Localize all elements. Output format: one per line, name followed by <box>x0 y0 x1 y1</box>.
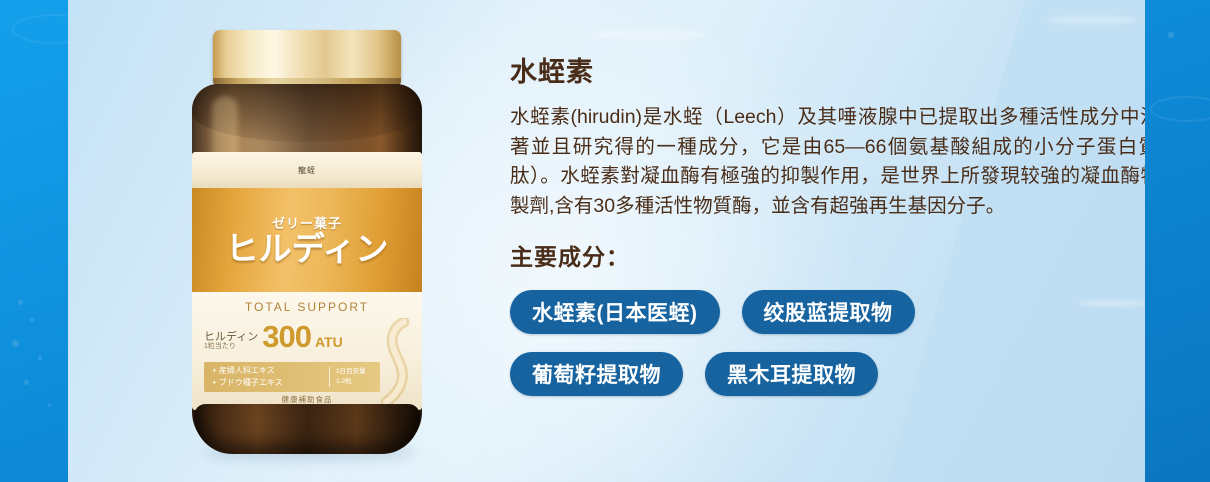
label-extra-line-2: + ブドウ種子エキス <box>212 377 329 389</box>
bottle-cap <box>213 30 401 82</box>
label-dose-value: 300 <box>262 324 311 350</box>
label-dose-name: ヒルディン <box>204 331 258 343</box>
label-dose-per: 1粒当たり <box>204 343 258 351</box>
ingredient-badge[interactable]: 水蛭素(日本医蛭) <box>510 290 720 334</box>
label-dose-row: ヒルディン 1粒当たり 300 ATU <box>204 324 343 350</box>
ingredient-badge[interactable]: 葡萄籽提取物 <box>510 352 683 396</box>
ingredients-heading: 主要成分： <box>510 238 1145 272</box>
leech-illustration-icon <box>374 318 418 406</box>
ingredient-badge-list: 水蛭素(日本医蛭) 绞股蓝提取物 葡萄籽提取物 黑木耳提取物 <box>510 290 1070 396</box>
ingredient-badge[interactable]: 黑木耳提取物 <box>705 352 878 396</box>
panel-wisp <box>1048 16 1138 24</box>
label-total-support: TOTAL SUPPORT <box>192 300 422 314</box>
label-white-area: TOTAL SUPPORT ヒルディン 1粒当たり 300 ATU + 産婦人科… <box>192 292 422 410</box>
label-extra-line-1: + 産婦人科エキス <box>212 365 329 377</box>
bottle-base <box>194 404 420 454</box>
content-panel: 龍蛭 ゼリー菓子 ヒルディン TOTAL SUPPORT ヒルディン 1粒当たり… <box>68 0 1145 482</box>
label-neck-text: 龍蛭 <box>298 165 316 176</box>
label-product-name: ヒルディン <box>226 232 389 267</box>
ingredient-badge[interactable]: 绞股蓝提取物 <box>742 290 915 334</box>
bottle-label: 龍蛭 ゼリー菓子 ヒルディン TOTAL SUPPORT ヒルディン 1粒当たり… <box>192 152 422 410</box>
label-gold-band: ゼリー菓子 ヒルディン <box>192 188 422 292</box>
label-extra-ingredients: + 産婦人科エキス + ブドウ種子エキス <box>204 365 329 388</box>
label-daily-dose: 1日目安量 1-2粒 <box>330 367 380 387</box>
label-neck-strip: 龍蛭 <box>192 152 422 188</box>
label-extra-box: + 産婦人科エキス + ブドウ種子エキス 1日目安量 1-2粒 <box>204 362 380 392</box>
supplement-bottle: 龍蛭 ゼリー菓子 ヒルディン TOTAL SUPPORT ヒルディン 1粒当たり… <box>176 12 448 452</box>
product-description: 水蛭素(hirudin)是水蛭（Leech）及其唾液腺中已提取出多種活性成分中活… <box>510 103 1145 222</box>
label-dose-unit: ATU <box>315 334 343 350</box>
page-title: 水蛭素 <box>510 50 1145 89</box>
panel-wisp <box>588 30 708 40</box>
product-image: 龍蛭 ゼリー菓子 ヒルディン TOTAL SUPPORT ヒルディン 1粒当たり… <box>176 12 456 462</box>
product-info: 水蛭素 水蛭素(hirudin)是水蛭（Leech）及其唾液腺中已提取出多種活性… <box>510 50 1145 396</box>
label-dose-name-group: ヒルディン 1粒当たり <box>204 331 258 351</box>
